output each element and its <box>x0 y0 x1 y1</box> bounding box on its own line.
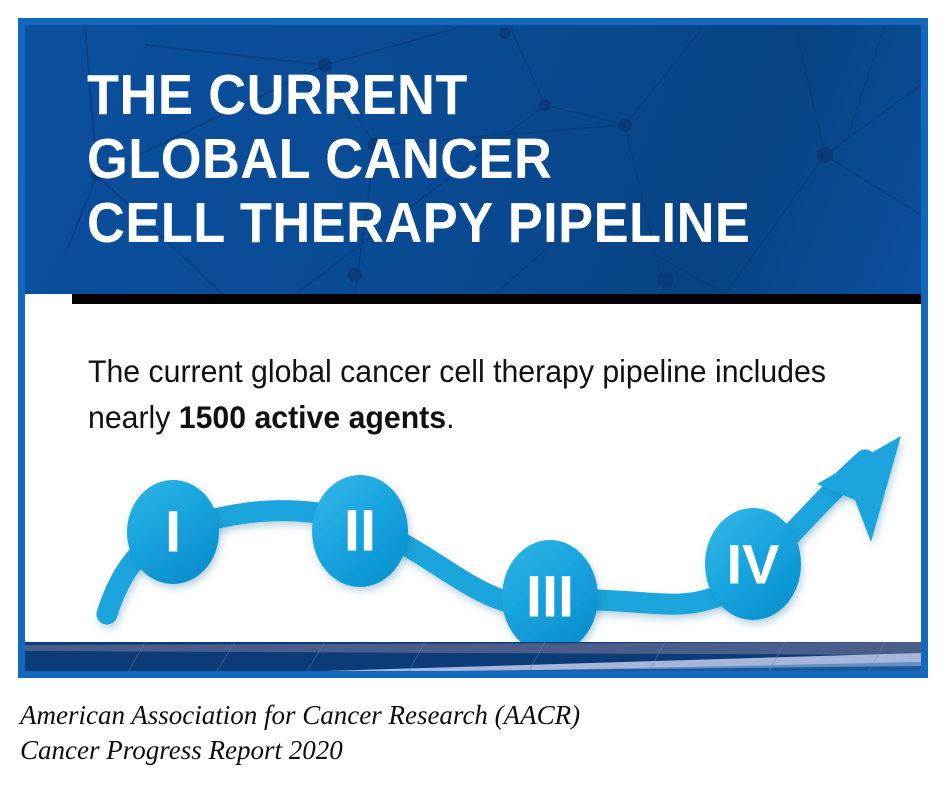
body-panel: The current global cancer cell therapy p… <box>25 304 921 642</box>
caption-line-1: American Association for Cancer Research… <box>20 698 920 733</box>
pipeline-node-iv: IV <box>705 508 801 620</box>
page-title: THE CURRENT GLOBAL CANCER CELL THERAPY P… <box>87 63 841 255</box>
pipeline-node-iv-label: IV <box>727 533 780 596</box>
footer-decorative-bar <box>25 642 921 671</box>
caption-line-2: Cancer Progress Report 2020 <box>20 733 920 768</box>
header-banner: THE CURRENT GLOBAL CANCER CELL THERAPY P… <box>25 25 921 294</box>
source-caption: American Association for Cancer Research… <box>20 698 920 768</box>
pipeline-node-i: I <box>127 480 219 584</box>
pipeline-node-iii: III <box>502 540 598 654</box>
pipeline-node-i-label: I <box>165 500 181 565</box>
header-divider <box>72 294 921 304</box>
pipeline-arrow-graphic: I II III IV <box>65 424 925 654</box>
footer-bar-shapes <box>25 642 921 671</box>
pipeline-node-iii-label: III <box>526 565 574 630</box>
infographic-card: THE CURRENT GLOBAL CANCER CELL THERAPY P… <box>18 18 928 678</box>
pipeline-node-ii-label: II <box>344 499 376 564</box>
pipeline-node-ii: II <box>312 475 408 587</box>
